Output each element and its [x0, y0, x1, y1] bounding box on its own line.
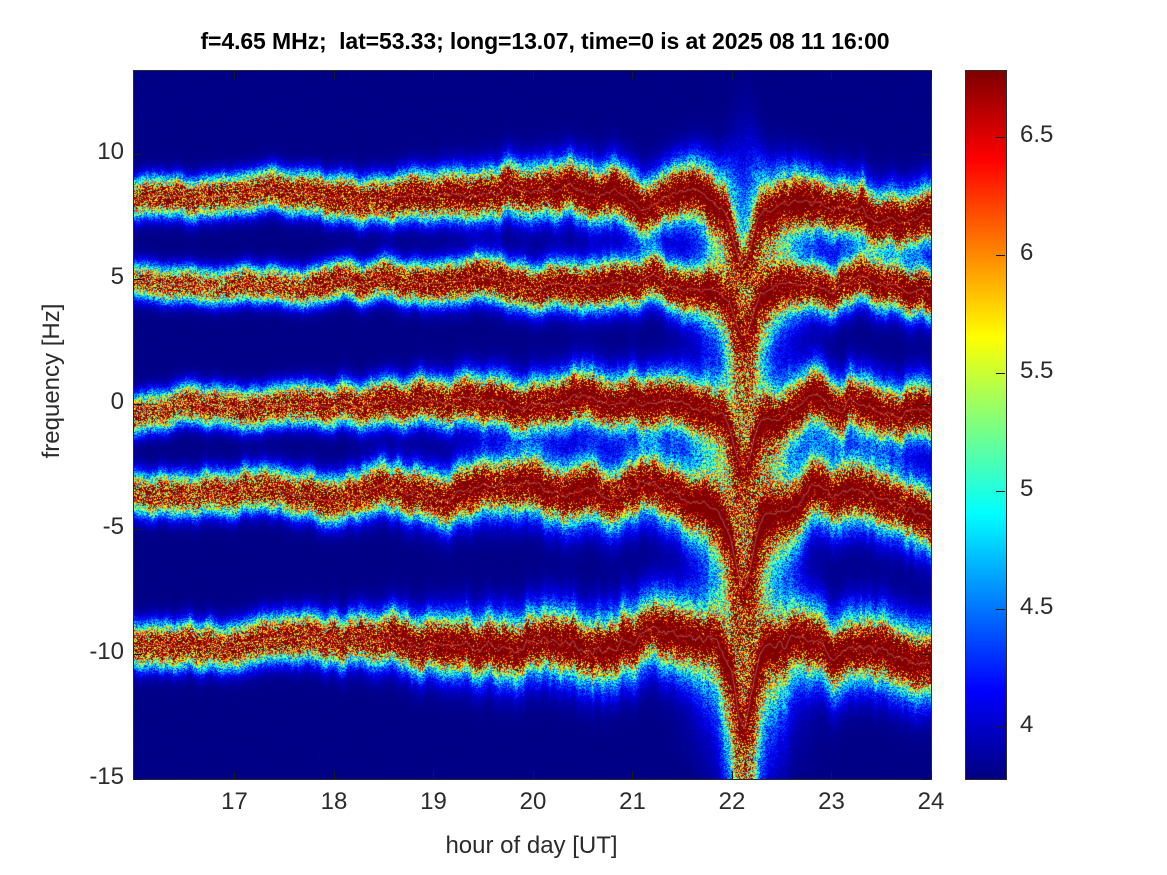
y-tick-mark	[922, 279, 930, 280]
x-tick-mark	[433, 71, 434, 79]
colorbar-tick-label: 5	[1020, 475, 1033, 503]
x-tick-label: 23	[801, 788, 861, 816]
colorbar-tick-mark	[996, 609, 1005, 610]
y-tick-mark	[134, 779, 142, 780]
x-tick-label: 22	[702, 788, 762, 816]
colorbar-tick-label: 6.5	[1020, 121, 1053, 149]
x-tick-label: 17	[204, 788, 264, 816]
y-tick-label: -15	[6, 763, 124, 791]
x-tick-mark	[632, 71, 633, 79]
y-tick-mark	[922, 654, 930, 655]
figure-canvas: f=4.65 MHz; lat=53.33; long=13.07, time=…	[0, 0, 1167, 875]
colorbar-tick-mark	[996, 727, 1005, 728]
x-tick-mark	[732, 771, 733, 779]
colorbar-tick-mark	[996, 491, 1005, 492]
page-title: f=4.65 MHz; lat=53.33; long=13.07, time=…	[0, 28, 1090, 55]
colorbar-tick-mark	[996, 255, 1005, 256]
x-tick-label: 18	[304, 788, 364, 816]
colorbar-tick-label: 6	[1020, 239, 1033, 267]
x-tick-mark	[632, 771, 633, 779]
colorbar[interactable]	[965, 70, 1007, 780]
colorbar-tick-label: 4	[1020, 711, 1033, 739]
x-tick-mark	[732, 71, 733, 79]
x-tick-mark	[334, 71, 335, 79]
x-axis-label: hour of day [UT]	[133, 832, 930, 860]
y-tick-mark	[922, 779, 930, 780]
x-tick-mark	[931, 71, 932, 79]
y-tick-mark	[134, 654, 142, 655]
x-tick-label: 20	[503, 788, 563, 816]
y-tick-label: 10	[6, 138, 124, 166]
y-tick-label: -5	[6, 513, 124, 541]
colorbar-tick-mark	[996, 137, 1005, 138]
x-tick-label: 24	[901, 788, 961, 816]
x-tick-mark	[433, 771, 434, 779]
x-tick-mark	[831, 771, 832, 779]
y-tick-mark	[134, 529, 142, 530]
x-tick-mark	[234, 71, 235, 79]
y-tick-mark	[922, 154, 930, 155]
y-tick-label: 5	[6, 263, 124, 291]
x-tick-mark	[931, 771, 932, 779]
colorbar-gradient	[966, 71, 1006, 779]
x-tick-label: 19	[403, 788, 463, 816]
y-tick-mark	[922, 404, 930, 405]
colorbar-tick-label: 5.5	[1020, 357, 1053, 385]
spectrogram-image	[134, 71, 931, 779]
y-tick-label: -10	[6, 638, 124, 666]
x-tick-mark	[334, 771, 335, 779]
colorbar-tick-mark	[996, 373, 1005, 374]
y-tick-mark	[134, 154, 142, 155]
colorbar-tick-label: 4.5	[1020, 593, 1053, 621]
x-tick-mark	[533, 771, 534, 779]
y-tick-label: 0	[6, 388, 124, 416]
x-tick-mark	[831, 71, 832, 79]
x-tick-mark	[533, 71, 534, 79]
x-tick-mark	[234, 771, 235, 779]
y-tick-mark	[134, 404, 142, 405]
x-tick-label: 21	[602, 788, 662, 816]
y-tick-mark	[134, 279, 142, 280]
spectrogram-axes[interactable]	[133, 70, 932, 780]
y-tick-mark	[922, 529, 930, 530]
